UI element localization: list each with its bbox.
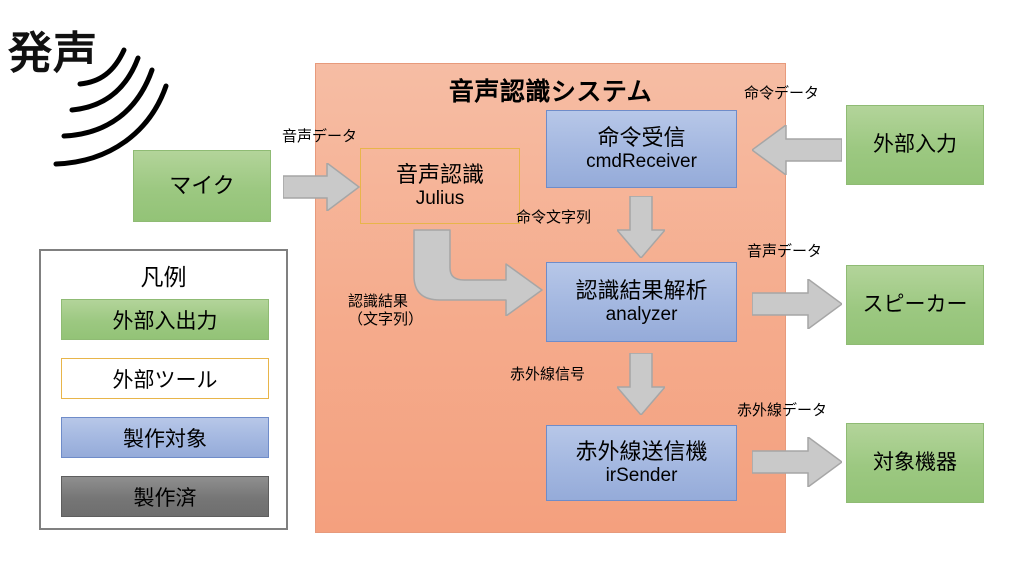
node-cmd-receiver[interactable]: 命令受信 cmdReceiver [546,110,737,188]
node-external-input-label: 外部入力 [873,133,957,157]
node-external-input[interactable]: 外部入力 [846,105,984,185]
legend-item-already-built-label: 製作済 [134,482,197,512]
legend-title: 凡例 [41,258,286,292]
node-julius-label-en: Julius [416,188,465,209]
arrow-ir-sender-to-target-device [752,437,842,487]
arrow-analyzer-to-ir-sender [617,353,665,415]
node-analyzer-label-en: analyzer [606,304,678,325]
edge-label-cmd-to-analyzer: 命令文字列 [516,209,591,227]
node-mic[interactable]: マイク [133,150,271,222]
node-speaker-label: スピーカー [863,293,968,317]
node-target-device[interactable]: 対象機器 [846,423,984,503]
node-analyzer-label-jp: 認識結果解析 [575,279,707,304]
legend-item-build-target-label: 製作対象 [123,423,207,453]
legend-item-already-built: 製作済 [61,476,269,517]
node-julius-label-jp: 音声認識 [396,163,484,188]
legend-item-external-io: 外部入出力 [61,299,269,340]
legend: 凡例 外部入出力 外部ツール 製作対象 製作済 [39,249,288,530]
system-title: 音声認識システム [316,72,785,108]
legend-item-external-io-label: 外部入出力 [113,305,218,335]
edge-label-analyzer-to-speaker: 音声データ [747,243,822,261]
arrow-cmd-receiver-to-analyzer [617,196,665,258]
node-cmd-receiver-label-en: cmdReceiver [586,151,697,172]
node-target-device-label: 対象機器 [873,451,957,475]
node-cmd-receiver-label-jp: 命令受信 [597,126,685,151]
legend-item-build-target: 製作対象 [61,417,269,458]
edge-label-analyzer-to-ir: 赤外線信号 [510,366,585,384]
edge-label-mic-to-julius: 音声データ [282,128,357,146]
diagram-canvas: 発声 音声認識システム マイク 音声認識 Julius 命令受信 cmdRece… [0,0,1024,576]
legend-item-external-tool-label: 外部ツール [113,364,218,394]
edge-label-julius-to-analyzer: 認識結果 （文字列） [348,293,423,330]
edge-label-julius-to-analyzer-line2: （文字列） [348,311,423,329]
node-analyzer[interactable]: 認識結果解析 analyzer [546,262,737,342]
arrow-julius-to-analyzer [410,228,545,316]
node-julius[interactable]: 音声認識 Julius [360,148,520,224]
edge-label-ir-to-device: 赤外線データ [737,402,827,420]
edge-label-julius-to-analyzer-line1: 認識結果 [348,293,423,311]
node-ir-sender[interactable]: 赤外線送信機 irSender [546,425,737,501]
node-ir-sender-label-jp: 赤外線送信機 [575,440,707,465]
arrow-external-input-to-cmd-receiver [752,125,842,175]
node-mic-label: マイク [169,174,235,199]
node-speaker[interactable]: スピーカー [846,265,984,345]
legend-item-external-tool: 外部ツール [61,358,269,399]
node-ir-sender-label-en: irSender [606,465,678,486]
arrow-analyzer-to-speaker [752,279,842,329]
edge-label-external-to-cmd: 命令データ [744,85,819,103]
arrow-mic-to-julius [283,163,361,211]
